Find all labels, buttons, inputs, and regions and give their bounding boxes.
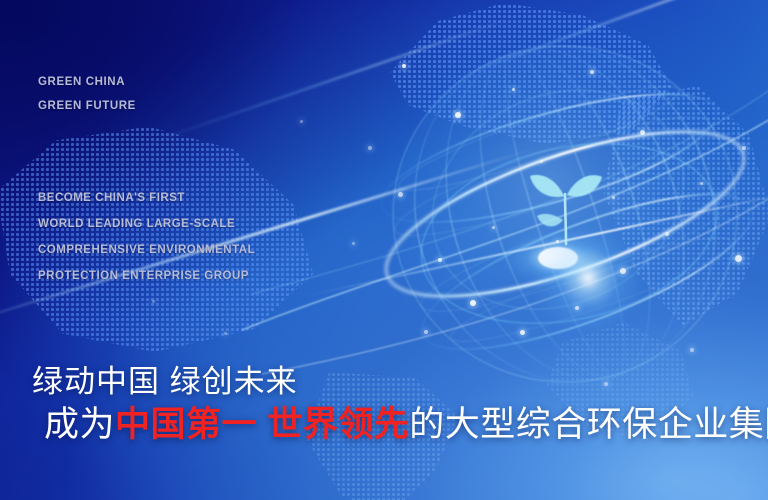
- slogan-line: COMPREHENSIVE ENVIRONMENTAL: [38, 237, 255, 263]
- glow-particle: [438, 258, 442, 262]
- glow-particle: [424, 330, 428, 334]
- glow-particle: [455, 112, 461, 118]
- glow-particle: [620, 268, 626, 274]
- glow-particle: [368, 146, 372, 150]
- glow-particle: [300, 120, 303, 123]
- glow-particle: [520, 330, 525, 335]
- glow-particle: [402, 64, 406, 68]
- slogan-line: PROTECTION ENTERPRISE GROUP: [38, 263, 255, 289]
- glow-particle: [556, 240, 559, 243]
- glow-particle: [398, 192, 403, 197]
- english-tagline-top: GREEN CHINA GREEN FUTURE: [38, 70, 136, 118]
- glow-particle: [612, 196, 615, 199]
- glow-particle: [640, 130, 645, 135]
- glow-particle: [590, 70, 594, 74]
- glow-particle: [224, 332, 227, 335]
- glow-particle: [665, 232, 669, 236]
- glow-particle: [152, 300, 155, 303]
- chinese-slogan-line1: 绿动中国 绿创未来: [32, 362, 768, 402]
- glow-particle: [575, 306, 579, 310]
- glow-particle: [470, 300, 476, 306]
- chinese-slogan-line2: 成为中国第一 世界领先的大型综合环保企业集团: [32, 402, 768, 448]
- tagline-line: GREEN CHINA: [38, 70, 136, 94]
- tagline-line: GREEN FUTURE: [38, 94, 136, 118]
- promotional-banner: GREEN CHINA GREEN FUTURE BECOME CHINA'S …: [0, 0, 768, 500]
- english-slogan-block: BECOME CHINA'S FIRST WORLD LEADING LARGE…: [38, 185, 255, 289]
- glow-particle: [352, 242, 355, 245]
- chinese-slogan-suffix: 的大型综合环保企业集团: [409, 405, 768, 444]
- glow-particle: [700, 182, 703, 185]
- glow-particle: [690, 348, 694, 352]
- slogan-line: WORLD LEADING LARGE-SCALE: [38, 211, 255, 237]
- sprout-icon: [522, 162, 608, 258]
- glow-particle: [742, 146, 746, 150]
- chinese-slogan-block: 绿动中国 绿创未来 成为中国第一 世界领先的大型综合环保企业集团: [32, 362, 768, 448]
- chinese-slogan-highlight: 中国第一 世界领先: [115, 405, 409, 444]
- slogan-line: BECOME CHINA'S FIRST: [38, 185, 255, 211]
- glow-particle: [540, 160, 543, 163]
- glow-particle: [512, 88, 515, 91]
- glow-particle: [492, 226, 495, 229]
- chinese-slogan-prefix: 成为: [44, 405, 115, 444]
- glow-particle: [735, 255, 742, 262]
